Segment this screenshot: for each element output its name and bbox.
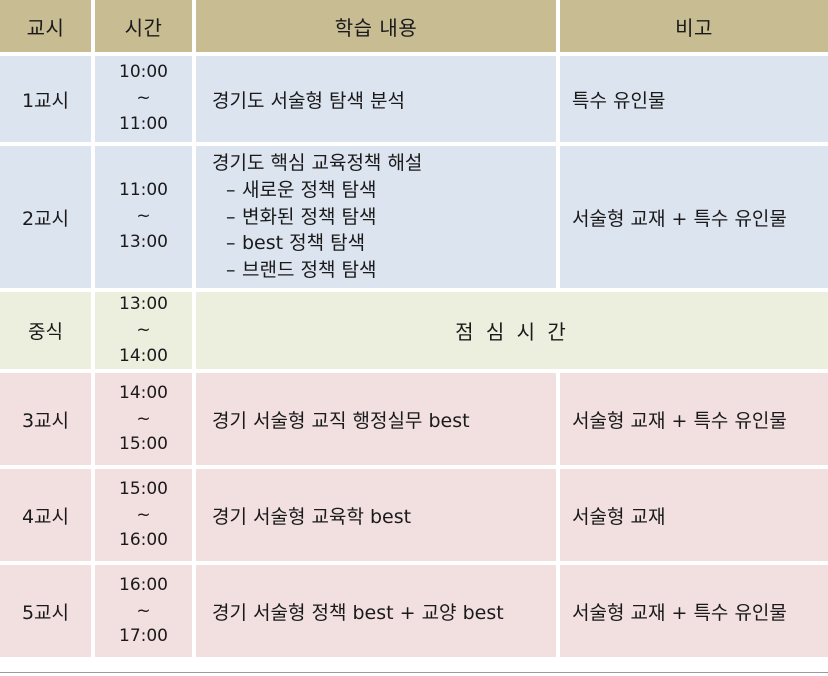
cell-content: 경기 서술형 교직 행정실무 best (196, 373, 556, 465)
cell-remark: 서술형 교재 + 특수 유인물 (560, 146, 828, 288)
cell-content: 경기 서술형 정책 best + 교양 best (196, 565, 556, 657)
cell-period: 5교시 (0, 565, 91, 657)
content-title: 경기도 핵심 교육정책 해설 (212, 150, 556, 177)
dash-icon: – (226, 257, 242, 284)
cell-time: 14:00 ~ 15:00 (95, 373, 192, 465)
table-row: 3교시 14:00 ~ 15:00 경기 서술형 교직 행정실무 best 서술… (0, 373, 828, 465)
cell-period: 3교시 (0, 373, 91, 465)
cell-remark: 특수 유인물 (560, 56, 828, 142)
list-item-label: 브랜드 정책 탐색 (242, 259, 376, 281)
header-remark: 비고 (560, 0, 828, 52)
list-item-label: 변화된 정책 탐색 (242, 206, 376, 228)
list-item: –브랜드 정책 탐색 (226, 257, 556, 284)
table-row: 4교시 15:00 ~ 16:00 경기 서술형 교육학 best 서술형 교재 (0, 469, 828, 561)
cell-time: 15:00 ~ 16:00 (95, 469, 192, 561)
content-block: 경기도 핵심 교육정책 해설 –새로운 정책 탐색 –변화된 정책 탐색 –be… (212, 150, 556, 285)
table-row-lunch: 중식 13:00 ~ 14:00 점 심 시 간 (0, 292, 828, 369)
list-item: –새로운 정책 탐색 (226, 177, 556, 204)
list-item-label: best 정책 탐색 (242, 232, 365, 254)
list-item-label: 새로운 정책 탐색 (242, 179, 376, 201)
cell-remark: 서술형 교재 (560, 469, 828, 561)
cell-remark: 서술형 교재 + 특수 유인물 (560, 565, 828, 657)
table-row: 1교시 10:00 ~ 11:00 경기도 서술형 탐색 분석 특수 유인물 (0, 56, 828, 142)
dash-icon: – (226, 177, 242, 204)
class-schedule-table: 교시 시간 학습 내용 비고 1교시 10:00 ~ 11:00 경기도 서술형… (0, 0, 828, 661)
header-time: 시간 (95, 0, 192, 52)
header-row: 교시 시간 학습 내용 비고 (0, 0, 828, 52)
header-content: 학습 내용 (196, 0, 556, 52)
header-period: 교시 (0, 0, 91, 52)
table-body: 1교시 10:00 ~ 11:00 경기도 서술형 탐색 분석 특수 유인물 2… (0, 56, 828, 657)
table-header: 교시 시간 학습 내용 비고 (0, 0, 828, 52)
dash-icon: – (226, 230, 242, 257)
cell-content: 경기도 핵심 교육정책 해설 –새로운 정책 탐색 –변화된 정책 탐색 –be… (196, 146, 556, 288)
cell-period: 2교시 (0, 146, 91, 288)
table-row: 2교시 11:00 ~ 13:00 경기도 핵심 교육정책 해설 –새로운 정책… (0, 146, 828, 288)
dash-icon: – (226, 204, 242, 231)
cell-content: 경기도 서술형 탐색 분석 (196, 56, 556, 142)
content-item-list: –새로운 정책 탐색 –변화된 정책 탐색 –best 정책 탐색 –브랜드 정… (212, 177, 556, 285)
cell-time: 13:00 ~ 14:00 (95, 292, 192, 369)
cell-time: 11:00 ~ 13:00 (95, 146, 192, 288)
cell-content: 경기 서술형 교육학 best (196, 469, 556, 561)
cell-period: 1교시 (0, 56, 91, 142)
list-item: –변화된 정책 탐색 (226, 204, 556, 231)
table-row: 5교시 16:00 ~ 17:00 경기 서술형 정책 best + 교양 be… (0, 565, 828, 657)
cell-time: 16:00 ~ 17:00 (95, 565, 192, 657)
cell-remark: 서술형 교재 + 특수 유인물 (560, 373, 828, 465)
cell-time: 10:00 ~ 11:00 (95, 56, 192, 142)
bottom-divider (0, 672, 828, 673)
list-item: –best 정책 탐색 (226, 230, 556, 257)
cell-lunch-label: 점 심 시 간 (196, 292, 828, 369)
cell-period: 중식 (0, 292, 91, 369)
cell-period: 4교시 (0, 469, 91, 561)
